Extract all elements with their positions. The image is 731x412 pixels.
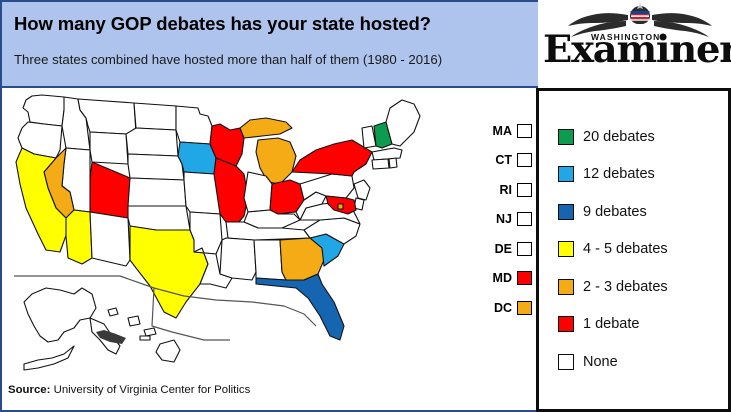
state-IA[interactable] [178, 142, 216, 174]
state-tag-label: MD [493, 272, 512, 285]
state-AK[interactable] [24, 288, 96, 342]
alaska-islands-detail [96, 330, 126, 344]
state-SD[interactable] [126, 128, 178, 156]
header-band: How many GOP debates has your state host… [0, 0, 538, 88]
state-RI[interactable] [389, 158, 397, 168]
state-tag-swatch [517, 242, 532, 256]
legend-label: 9 debates [583, 204, 647, 220]
state-tag-ri[interactable]: RI [468, 175, 532, 205]
state-HI-molokai[interactable] [140, 336, 150, 340]
state-FL[interactable] [256, 274, 344, 340]
state-tag-de[interactable]: DE [468, 234, 532, 264]
source-credit: Source: University of Virginia Center fo… [8, 384, 250, 396]
legend-swatch [558, 316, 574, 332]
legend-swatch [558, 129, 574, 145]
state-tag-label: RI [500, 184, 513, 197]
map-panel: Source: University of Virginia Center fo… [0, 88, 538, 412]
source-label: Source: [8, 384, 50, 396]
legend-item-2-3-debates[interactable]: 2 - 3 debates [558, 268, 668, 306]
page-title: How many GOP debates has your state host… [14, 13, 524, 35]
legend-item-12-debates[interactable]: 12 debates [558, 156, 668, 194]
legend-swatch [558, 354, 574, 370]
state-KS[interactable] [128, 178, 186, 206]
legend-item-9-debates[interactable]: 9 debates [558, 193, 668, 231]
logo-wordmark: Examiner [543, 31, 731, 68]
state-tag-label: NJ [496, 213, 512, 226]
state-WA[interactable] [23, 95, 66, 126]
publisher-logo: WASHINGTON Examiner [540, 2, 728, 84]
state-ME[interactable] [386, 100, 420, 146]
state-DC[interactable] [338, 204, 343, 209]
state-NM[interactable] [90, 212, 130, 266]
state-tag-swatch [517, 271, 532, 285]
state-MI-upper[interactable] [240, 118, 292, 138]
state-tag-ct[interactable]: CT [468, 146, 532, 176]
legend-label: 2 - 3 debates [583, 279, 668, 295]
state-WY[interactable] [90, 132, 128, 164]
legend-label: 1 debate [583, 316, 639, 332]
state-CT[interactable] [372, 159, 389, 169]
state-tag-swatch [517, 153, 532, 167]
state-tag-dc[interactable]: DC [468, 293, 532, 323]
legend-label: 20 debates [583, 129, 655, 145]
legend-item-4-5-debates[interactable]: 4 - 5 debates [558, 231, 668, 269]
page-subtitle: Three states combined have hosted more t… [14, 52, 530, 67]
state-tag-label: MA [493, 125, 512, 138]
legend-swatch [558, 204, 574, 220]
state-IN[interactable] [244, 172, 272, 212]
state-NY[interactable] [292, 140, 372, 176]
state-NJ[interactable] [354, 180, 370, 200]
state-tag-swatch [517, 124, 532, 138]
alaska-aleutians[interactable] [24, 346, 74, 370]
legend-item-none[interactable]: None [558, 343, 668, 381]
state-AZ[interactable] [66, 210, 92, 264]
state-NE[interactable] [128, 154, 184, 180]
legend-panel: 20 debates 12 debates 9 debates 4 - 5 de… [536, 88, 731, 412]
state-tag-label: DE [495, 243, 512, 256]
state-tag-ma[interactable]: MA [468, 116, 532, 146]
legend-label: None [583, 354, 618, 370]
small-state-legend: MA CT RI NJ DE MD [468, 116, 532, 323]
legend-label: 12 debates [583, 166, 655, 182]
legend-list: 20 debates 12 debates 9 debates 4 - 5 de… [558, 118, 668, 381]
legend-swatch [558, 279, 574, 295]
state-CO[interactable] [90, 162, 130, 218]
state-ND[interactable] [134, 103, 176, 130]
legend-swatch [558, 166, 574, 182]
state-MA[interactable] [372, 148, 402, 160]
state-tag-md[interactable]: MD [468, 264, 532, 294]
state-tag-nj[interactable]: NJ [468, 205, 532, 235]
state-HI-kauai[interactable] [108, 308, 118, 316]
state-tag-swatch [517, 183, 532, 197]
legend-item-20-debates[interactable]: 20 debates [558, 118, 668, 156]
state-HI-maui[interactable] [144, 328, 156, 336]
state-OK[interactable] [128, 206, 190, 230]
legend-label: 4 - 5 debates [583, 241, 668, 257]
state-AR[interactable] [190, 212, 222, 254]
us-choropleth-map [4, 88, 474, 384]
state-tag-swatch [517, 301, 532, 315]
state-tag-swatch [517, 212, 532, 226]
state-MS[interactable] [220, 238, 256, 280]
source-text: University of Virginia Center for Politi… [54, 384, 251, 396]
infographic-root: How many GOP debates has your state host… [0, 0, 731, 412]
state-HI-oahu[interactable] [128, 316, 140, 326]
state-HI-bigisland[interactable] [156, 340, 180, 362]
state-tag-label: DC [494, 302, 512, 315]
state-MN[interactable] [176, 106, 212, 144]
legend-swatch [558, 241, 574, 257]
state-tag-label: CT [495, 154, 512, 167]
legend-item-1-debate[interactable]: 1 debate [558, 306, 668, 344]
